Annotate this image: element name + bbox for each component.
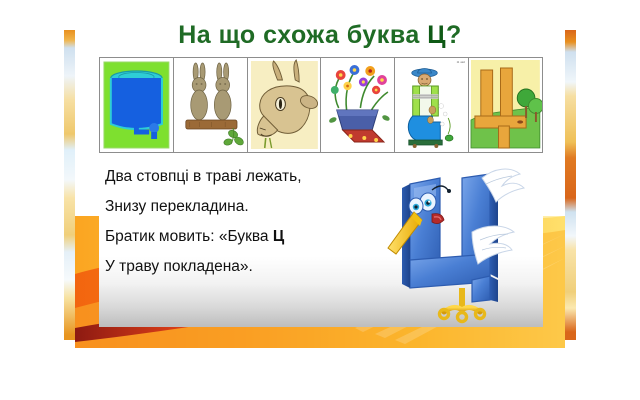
poem-line-4: У траву покладена». [105,252,415,282]
decor-ribbon-left [64,30,75,340]
bird-letter-mascot [386,162,526,334]
picture-cell-fence[interactable] [469,58,542,152]
picture-cell-rabbits[interactable] [174,58,248,152]
title-letter: Ц [427,22,446,49]
picture-cell-scarecrow[interactable]: 11 авг [395,58,469,152]
poem-line-3: Братик мовить: «Буква Ц [105,222,415,252]
poem-line-3-letter: Ц [273,228,284,245]
poem-line-3-text: Братик мовить: «Буква [105,228,273,245]
poem-line-1: Два стовпці в траві лежать, [105,162,415,192]
slide-title: На що схожа буква Ц? [75,22,565,52]
slide-canvas: На що схожа буква Ц? [0,0,640,400]
picture-cell-flowers[interactable] [321,58,395,152]
picture-cell-barrel[interactable] [100,58,174,152]
picture-strip: 11 авг [99,57,543,153]
title-suffix: ? [446,22,462,49]
poem-line-2: Знизу перекладина. [105,192,415,222]
picture-cell-goat[interactable] [248,58,322,152]
decor-ribbon-right [565,30,576,340]
poem-text: Два стовпці в траві лежать, Знизу перекл… [105,162,415,282]
picture-cell-caption: 11 авг [456,60,465,64]
title-prefix: На що схожа буква [178,22,427,49]
presentation-slide: На що схожа буква Ц? [64,22,576,348]
